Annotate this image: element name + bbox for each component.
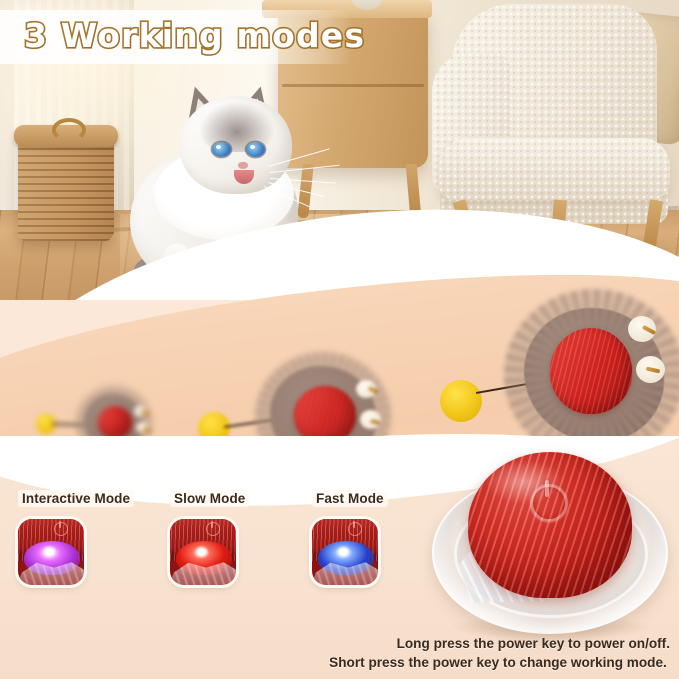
furry-ball-large [432,304,668,454]
product-photo [424,448,674,638]
mode-slow[interactable]: Slow Mode [170,490,249,585]
led-core [196,547,207,556]
mode-thumbnail-list: Interactive Mode Slow Mode [0,490,430,650]
armchair-seat [438,138,670,200]
product-infographic: Interactive Mode Slow Mode [0,0,679,679]
power-icon [530,484,568,522]
power-icon [54,522,68,536]
instruction-text: Long press the power key to power on/off… [322,634,674,672]
wicker-basket [18,133,114,241]
red-ball [98,406,132,439]
mode-label: Interactive Mode [18,490,134,507]
mode-interactive[interactable]: Interactive Mode [18,490,134,585]
cat-nose [238,162,248,169]
mode-fast[interactable]: Fast Mode [312,490,388,585]
power-icon [206,522,220,536]
led-core [44,547,55,556]
mode-thumbnail-fast[interactable] [312,519,378,585]
instruction-line-2: Short press the power key to change work… [322,653,674,672]
instruction-line-1: Long press the power key to power on/off… [322,634,674,653]
modes-section: Interactive Mode Slow Mode [0,436,679,679]
power-icon [348,522,362,536]
mode-label: Fast Mode [312,490,388,507]
mode-thumbnail-slow[interactable] [170,519,236,585]
cat-eye-left [212,142,231,157]
mode-label: Slow Mode [170,490,249,507]
mode-thumbnail-interactive[interactable] [18,519,84,585]
red-ball [550,328,632,414]
page-title: 3 Working modes [24,16,365,55]
pom-pom [440,380,482,422]
led-core [338,547,349,556]
basket-handle [52,118,86,142]
cat-eye-right [246,142,265,157]
